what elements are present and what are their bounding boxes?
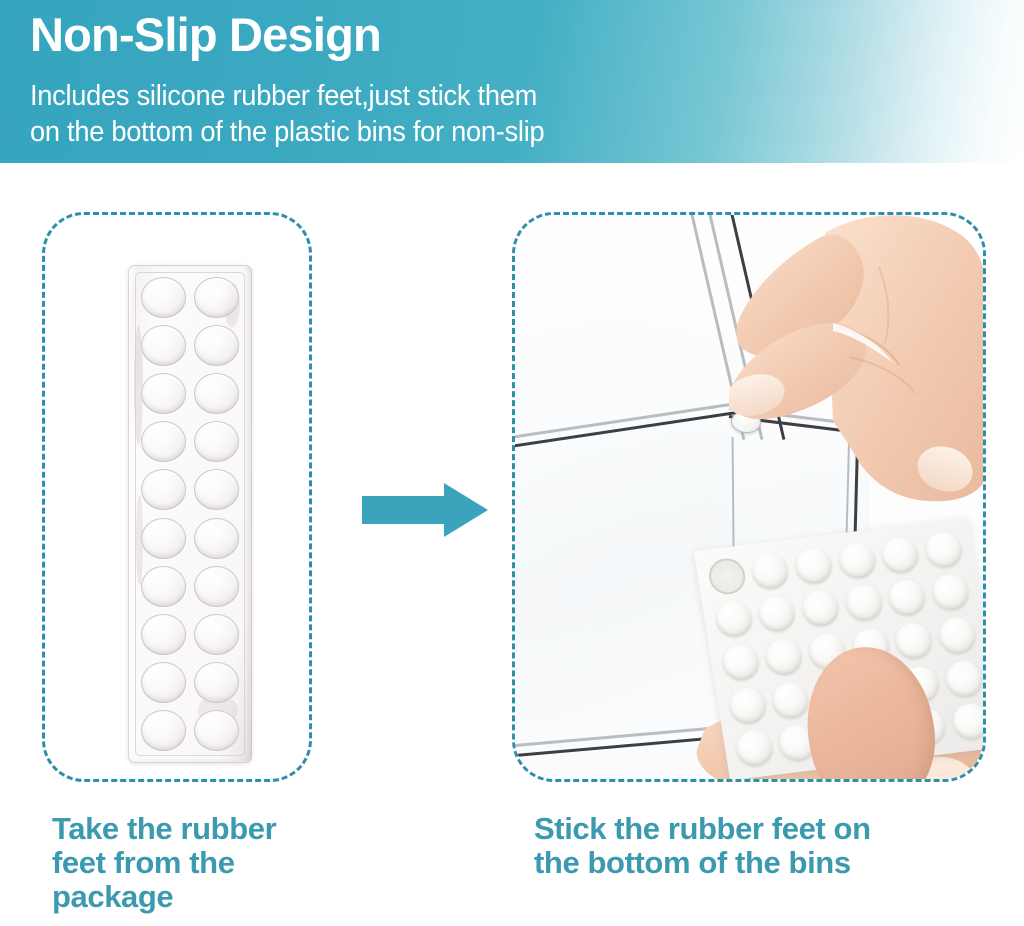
rubber-foot — [191, 611, 244, 658]
rubber-foot — [191, 659, 244, 706]
bumper-dot — [722, 681, 772, 729]
bumper-dot — [759, 633, 809, 681]
bumper-dot — [795, 584, 845, 632]
step-1-caption: Take the rubber feet from the package — [52, 812, 382, 914]
rubber-foot — [191, 274, 244, 321]
rubber-foot — [137, 274, 190, 321]
rubber-foot — [137, 563, 190, 610]
rubber-foot — [191, 418, 244, 465]
step-2-caption: Stick the rubber feet on the bottom of t… — [534, 812, 1004, 880]
flow-arrow-icon — [362, 481, 488, 539]
bumper-dot — [729, 724, 779, 772]
bumper-dot — [752, 590, 802, 638]
step-1-media — [45, 215, 309, 779]
rubber-foot — [191, 563, 244, 610]
bumper-dot — [832, 536, 882, 584]
rubber-foot — [191, 707, 244, 754]
bumper-dot — [932, 611, 982, 659]
page-title: Non-Slip Design — [30, 6, 381, 64]
rubber-foot — [137, 466, 190, 513]
blister-pack-strip — [128, 265, 252, 763]
step-2-media — [515, 215, 983, 779]
bumper-dot — [882, 574, 932, 622]
rubber-foot — [191, 466, 244, 513]
rubber-foot — [137, 322, 190, 369]
header-subtitle: Includes silicone rubber feet,just stick… — [30, 78, 544, 150]
rubber-foot — [137, 611, 190, 658]
bumper-dot — [839, 579, 889, 627]
bumper-dot — [745, 547, 795, 595]
hand-pressing-foot — [729, 215, 983, 507]
bumper-dot — [715, 638, 765, 686]
bumper-dot — [789, 541, 839, 589]
rubber-foot — [137, 418, 190, 465]
bumper-dot — [925, 568, 975, 616]
rubber-foot — [191, 514, 244, 561]
step-1-panel — [42, 212, 312, 782]
header-banner: Non-Slip Design Includes silicone rubber… — [0, 0, 1024, 163]
rubber-foot — [137, 707, 190, 754]
step-2-panel — [512, 212, 986, 782]
bumper-dot — [875, 531, 925, 579]
rubber-foot — [137, 659, 190, 706]
bumper-dot — [946, 698, 983, 746]
bumper-dot — [709, 595, 759, 643]
rubber-foot — [137, 514, 190, 561]
blister-cavity-grid — [135, 272, 245, 756]
rubber-foot — [191, 370, 244, 417]
bumper-dot — [939, 655, 983, 703]
rubber-foot — [137, 370, 190, 417]
rubber-foot — [191, 322, 244, 369]
bumper-dot — [702, 552, 752, 600]
bumper-dot — [919, 525, 969, 573]
